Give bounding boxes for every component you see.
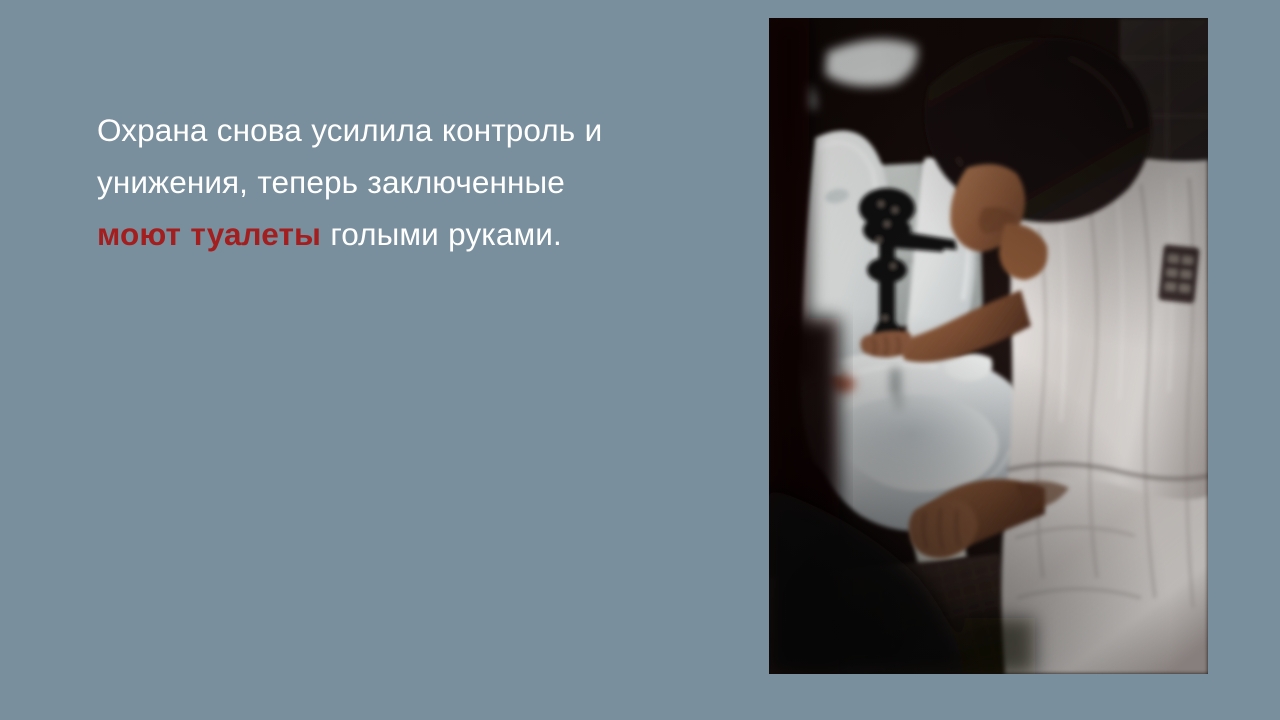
body-text-line-3: моют туалеты голыми руками. xyxy=(97,208,717,260)
body-text-line-3-tail: голыми руками. xyxy=(321,216,562,252)
slide-body-text: Охрана снова усилила контроль и унижения… xyxy=(97,104,717,260)
body-text-highlight: моют туалеты xyxy=(97,216,321,252)
photo-garment-patch xyxy=(1158,244,1200,303)
slide-photo xyxy=(769,18,1208,674)
presentation-slide: Охрана снова усилила контроль и унижения… xyxy=(0,0,1280,720)
body-text-line-2-text: унижения, теперь заключенные xyxy=(97,164,565,200)
photo-person-garment xyxy=(1001,150,1208,674)
body-text-line-2: унижения, теперь заключенные xyxy=(97,156,717,208)
body-text-line-1: Охрана снова усилила контроль и xyxy=(97,104,717,156)
body-text-line-1-text: Охрана снова усилила контроль и xyxy=(97,112,602,148)
photo-illustration xyxy=(769,18,1208,674)
